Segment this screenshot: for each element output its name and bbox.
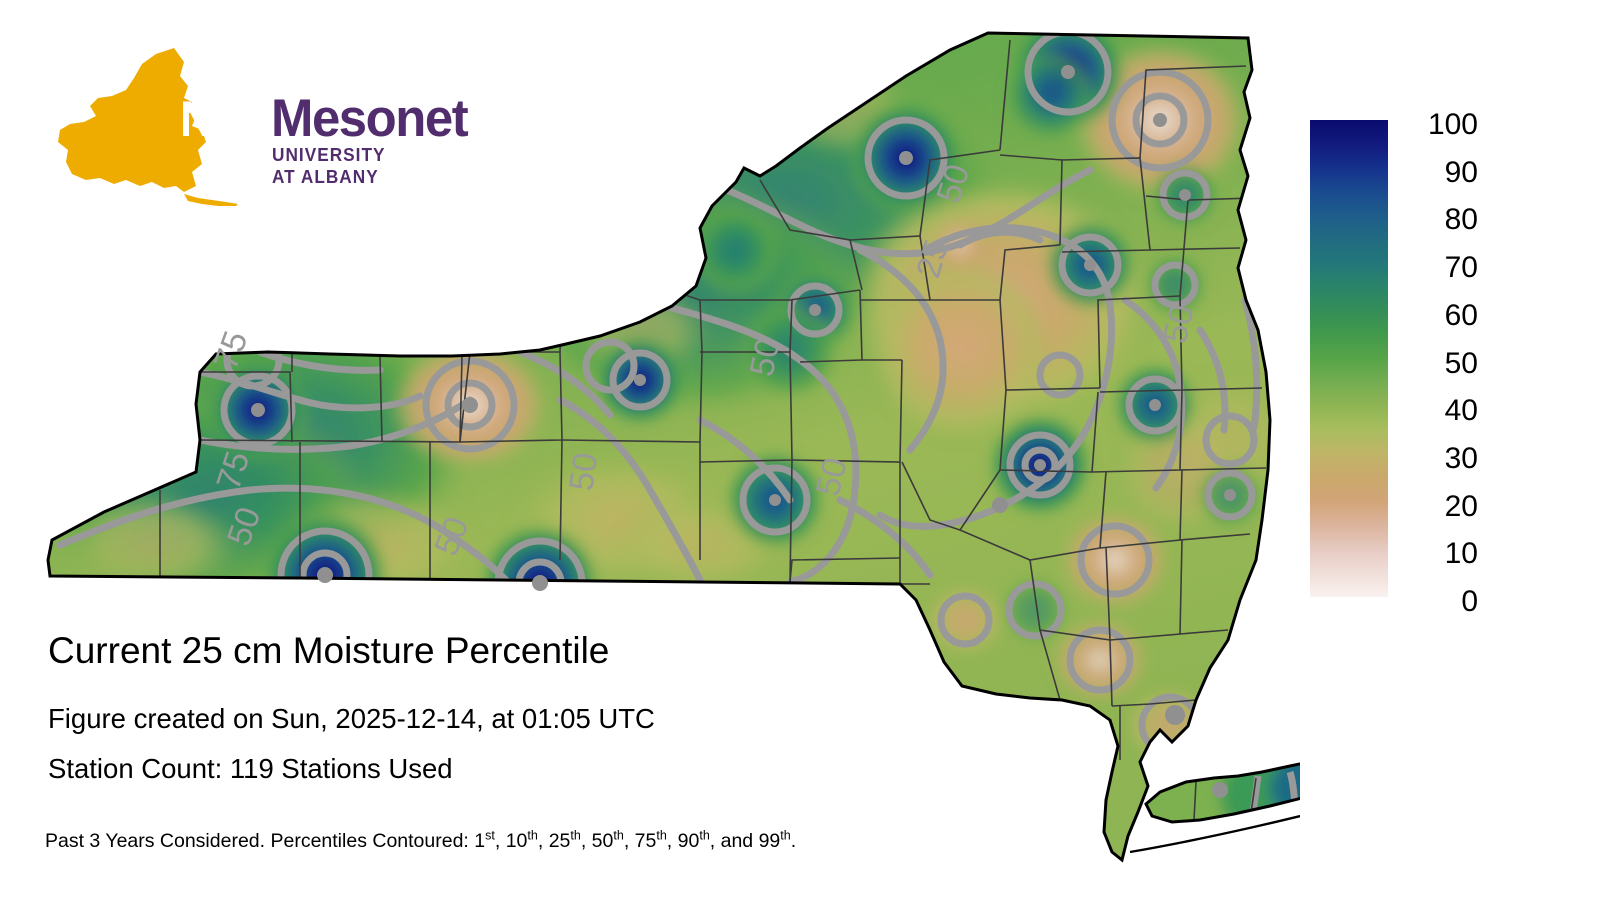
colorbar-tick-80: 80 bbox=[1445, 205, 1478, 235]
percentile-colorbar bbox=[1310, 120, 1388, 597]
colorbar-tick-20: 20 bbox=[1445, 492, 1478, 522]
logo-tagline: UNIVERSITY AT ALBANY bbox=[272, 144, 387, 188]
creation-timestamp: Figure created on Sun, 2025-12-14, at 01… bbox=[48, 702, 655, 736]
colorbar-tick-90: 90 bbox=[1445, 158, 1478, 188]
station-count-text: Station Count: 119 Stations Used bbox=[48, 752, 453, 786]
contour-label-50: 50 bbox=[562, 450, 605, 493]
colorbar-tick-60: 60 bbox=[1445, 301, 1478, 331]
footnote-ordinal: 90 bbox=[678, 830, 700, 852]
footnote-ordinal-suffix: st bbox=[485, 829, 495, 843]
footnote-ordinal-suffix: th bbox=[699, 829, 709, 843]
footnote-ordinal: 99 bbox=[759, 830, 781, 852]
nys-mesonet-logo: NYS Mesonet UNIVERSITY AT ALBANY bbox=[56, 46, 396, 206]
footnote-ordinal: 10 bbox=[506, 830, 528, 852]
colorbar-tick-0: 0 bbox=[1461, 587, 1478, 617]
colorbar-tick-100: 100 bbox=[1428, 110, 1478, 140]
contour-label-50: 50 bbox=[743, 335, 788, 380]
footnote-ordinal: 1 bbox=[474, 830, 485, 852]
logo-nys-text: NYS bbox=[180, 90, 272, 148]
footnote-ordinal-suffix: th bbox=[613, 829, 623, 843]
footnote-ordinal-suffix: th bbox=[527, 829, 537, 843]
contour-footnote: Past 3 Years Considered. Percentiles Con… bbox=[45, 829, 796, 853]
colorbar-tick-30: 30 bbox=[1445, 444, 1478, 474]
page-title: Current 25 cm Moisture Percentile bbox=[48, 629, 609, 673]
colorbar-tick-50: 50 bbox=[1445, 349, 1478, 379]
colorbar-tick-70: 70 bbox=[1445, 253, 1478, 283]
colorbar-gradient bbox=[1310, 120, 1388, 597]
colorbar-tick-40: 40 bbox=[1445, 396, 1478, 426]
footnote-ordinal: 25 bbox=[549, 830, 571, 852]
footnote-ordinal-suffix: th bbox=[570, 829, 580, 843]
footnote-ordinal: 75 bbox=[635, 830, 657, 852]
colorbar-tick-labels: 1009080706050403020100 bbox=[1398, 110, 1478, 610]
logo-mesonet-text: Mesonet bbox=[271, 88, 467, 149]
colorbar-tick-10: 10 bbox=[1445, 539, 1478, 569]
footnote-ordinal-suffix: th bbox=[780, 829, 790, 843]
footnote-ordinal: 50 bbox=[592, 830, 614, 852]
footnote-ordinal-suffix: th bbox=[656, 829, 666, 843]
